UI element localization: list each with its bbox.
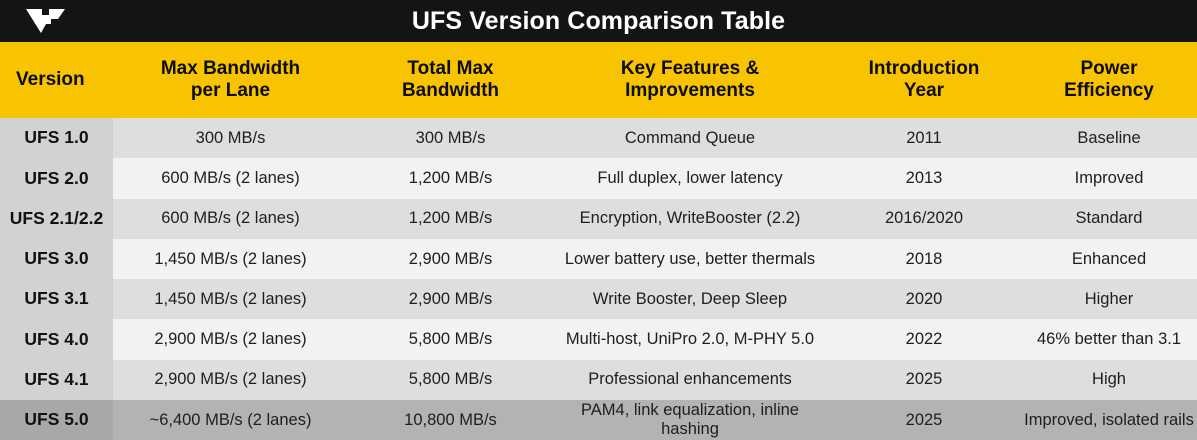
v-logo-icon — [22, 8, 78, 34]
column-header-key-features[interactable]: Key Features & Improvements — [553, 42, 827, 118]
cell-key-features: Full duplex, lower latency — [553, 158, 827, 198]
header-line: Improvements — [625, 80, 755, 101]
cell-max-bandwidth-per-lane: 1,450 MB/s (2 lanes) — [113, 239, 348, 279]
page-title: UFS Version Comparison Table — [412, 9, 785, 34]
cell-introduction-year: 2025 — [827, 400, 1021, 440]
cell-total-max-bandwidth: 10,800 MB/s — [348, 400, 553, 440]
column-header-introduction-year[interactable]: Introduction Year — [827, 42, 1021, 118]
ufs-comparison-table: Version Max Bandwidth per Lane Total Max… — [0, 42, 1197, 440]
title-bar: UFS Version Comparison Table — [0, 0, 1197, 42]
cell-introduction-year: 2025 — [827, 360, 1021, 400]
header-line: Introduction — [869, 58, 980, 79]
header-line: Efficiency — [1064, 80, 1154, 101]
cell-introduction-year: 2018 — [827, 239, 1021, 279]
table-body: UFS 1.0300 MB/s300 MB/sCommand Queue2011… — [0, 118, 1197, 440]
cell-key-features: Command Queue — [553, 118, 827, 158]
cell-power-efficiency: Higher — [1021, 279, 1197, 319]
cell-introduction-year: 2016/2020 — [827, 199, 1021, 239]
cell-total-max-bandwidth: 2,900 MB/s — [348, 279, 553, 319]
cell-version: UFS 4.0 — [0, 319, 113, 359]
column-header-power-efficiency[interactable]: Power Efficiency — [1021, 42, 1197, 118]
cell-max-bandwidth-per-lane: 600 MB/s (2 lanes) — [113, 158, 348, 198]
header-line: Total Max — [407, 58, 493, 79]
cell-total-max-bandwidth: 2,900 MB/s — [348, 239, 553, 279]
header-line: Bandwidth — [402, 80, 499, 101]
cell-power-efficiency: Enhanced — [1021, 239, 1197, 279]
cell-version: UFS 3.1 — [0, 279, 113, 319]
table-row[interactable]: UFS 4.02,900 MB/s (2 lanes)5,800 MB/sMul… — [0, 319, 1197, 359]
cell-version: UFS 3.0 — [0, 239, 113, 279]
cell-power-efficiency: Standard — [1021, 199, 1197, 239]
cell-introduction-year: 2011 — [827, 118, 1021, 158]
cell-power-efficiency: 46% better than 3.1 — [1021, 319, 1197, 359]
cell-total-max-bandwidth: 300 MB/s — [348, 118, 553, 158]
table-header-row: Version Max Bandwidth per Lane Total Max… — [0, 42, 1197, 118]
cell-key-features: Lower battery use, better thermals — [553, 239, 827, 279]
cell-version: UFS 2.1/2.2 — [0, 199, 113, 239]
table-row[interactable]: UFS 1.0300 MB/s300 MB/sCommand Queue2011… — [0, 118, 1197, 158]
table-row[interactable]: UFS 2.1/2.2600 MB/s (2 lanes)1,200 MB/sE… — [0, 199, 1197, 239]
cell-version: UFS 1.0 — [0, 118, 113, 158]
table-row[interactable]: UFS 5.0~6,400 MB/s (2 lanes)10,800 MB/sP… — [0, 400, 1197, 440]
page-root: UFS Version Comparison Table Version Max… — [0, 0, 1197, 440]
header-line: per Lane — [191, 80, 270, 101]
cell-max-bandwidth-per-lane: 2,900 MB/s (2 lanes) — [113, 319, 348, 359]
cell-total-max-bandwidth: 1,200 MB/s — [348, 158, 553, 198]
header-line: Max Bandwidth — [161, 58, 300, 79]
cell-power-efficiency: Improved — [1021, 158, 1197, 198]
column-header-version[interactable]: Version — [0, 42, 113, 118]
cell-key-features: Write Booster, Deep Sleep — [553, 279, 827, 319]
cell-power-efficiency: Improved, isolated rails — [1021, 400, 1197, 440]
cell-max-bandwidth-per-lane: 1,450 MB/s (2 lanes) — [113, 279, 348, 319]
cell-introduction-year: 2020 — [827, 279, 1021, 319]
table-row[interactable]: UFS 4.12,900 MB/s (2 lanes)5,800 MB/sPro… — [0, 360, 1197, 400]
cell-total-max-bandwidth: 1,200 MB/s — [348, 199, 553, 239]
table-row[interactable]: UFS 3.01,450 MB/s (2 lanes)2,900 MB/sLow… — [0, 239, 1197, 279]
cell-key-features: PAM4, link equalization, inline hashing — [553, 400, 827, 440]
cell-version: UFS 5.0 — [0, 400, 113, 440]
header-line: Version — [16, 69, 85, 90]
cell-total-max-bandwidth: 5,800 MB/s — [348, 360, 553, 400]
cell-max-bandwidth-per-lane: 300 MB/s — [113, 118, 348, 158]
cell-version: UFS 2.0 — [0, 158, 113, 198]
column-header-total-max-bandwidth[interactable]: Total Max Bandwidth — [348, 42, 553, 118]
cell-max-bandwidth-per-lane: 600 MB/s (2 lanes) — [113, 199, 348, 239]
cell-max-bandwidth-per-lane: ~6,400 MB/s (2 lanes) — [113, 400, 348, 440]
header-line: Year — [904, 80, 944, 101]
cell-version: UFS 4.1 — [0, 360, 113, 400]
cell-key-features: Encryption, WriteBooster (2.2) — [553, 199, 827, 239]
table-row[interactable]: UFS 3.11,450 MB/s (2 lanes)2,900 MB/sWri… — [0, 279, 1197, 319]
cell-key-features: Multi-host, UniPro 2.0, M-PHY 5.0 — [553, 319, 827, 359]
cell-power-efficiency: Baseline — [1021, 118, 1197, 158]
table-row[interactable]: UFS 2.0600 MB/s (2 lanes)1,200 MB/sFull … — [0, 158, 1197, 198]
cell-total-max-bandwidth: 5,800 MB/s — [348, 319, 553, 359]
cell-key-features: Professional enhancements — [553, 360, 827, 400]
cell-introduction-year: 2013 — [827, 158, 1021, 198]
cell-max-bandwidth-per-lane: 2,900 MB/s (2 lanes) — [113, 360, 348, 400]
cell-introduction-year: 2022 — [827, 319, 1021, 359]
header-line: Key Features & — [621, 58, 759, 79]
header-line: Power — [1080, 58, 1137, 79]
column-header-max-bandwidth-per-lane[interactable]: Max Bandwidth per Lane — [113, 42, 348, 118]
table-header: Version Max Bandwidth per Lane Total Max… — [0, 42, 1197, 118]
cell-power-efficiency: High — [1021, 360, 1197, 400]
